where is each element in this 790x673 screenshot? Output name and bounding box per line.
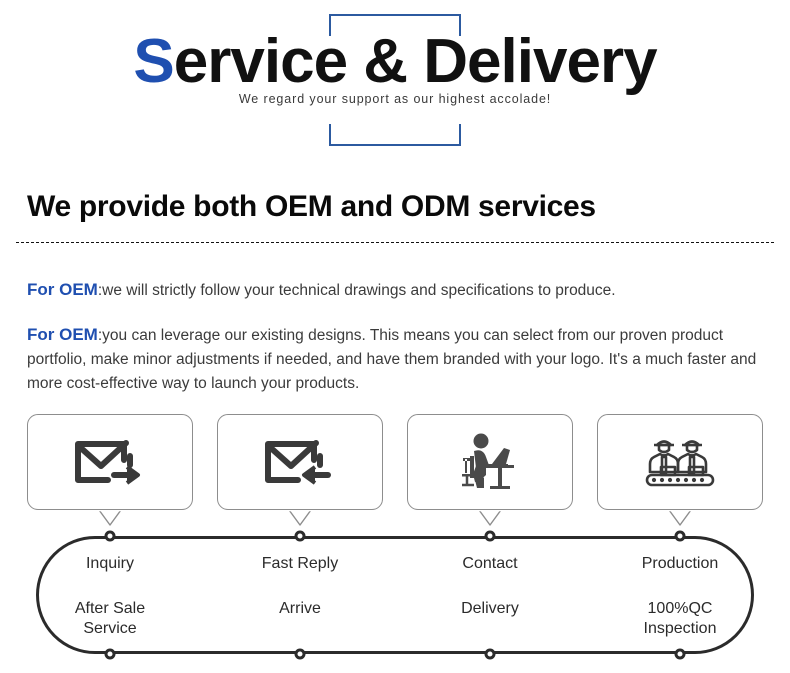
process-card-inquiry — [27, 414, 193, 510]
flow-step-qc-inspection: 100%QC Inspection — [605, 599, 755, 640]
flow-step-fast-reply: Fast Reply — [225, 554, 375, 574]
flow-node-top-3 — [485, 531, 496, 542]
paragraph-odm: For OEM:you can leverage our existing de… — [27, 322, 767, 396]
person-at-desk-icon — [448, 430, 532, 494]
section-heading: We provide both OEM and ODM services — [27, 190, 596, 224]
process-icon-cards — [0, 414, 790, 524]
flow-step-arrive: Arrive — [225, 599, 375, 619]
page-subtitle: We regard your support as our highest ac… — [0, 92, 790, 106]
process-card-contact — [407, 414, 573, 510]
factory-workers-conveyor-icon — [638, 430, 722, 494]
section-divider — [16, 242, 774, 243]
card-tail-production — [669, 510, 691, 527]
process-card-fast-reply — [217, 414, 383, 510]
flow-step-production: Production — [605, 554, 755, 574]
page-title-accent-letter: S — [133, 27, 173, 96]
flow-node-bottom-3 — [485, 649, 496, 660]
flow-step-contact: Contact — [415, 554, 565, 574]
card-tail-contact — [479, 510, 501, 527]
decorative-bracket-bottom — [329, 124, 461, 146]
flow-node-top-2 — [295, 531, 306, 542]
paragraph-odm-lead: For OEM — [27, 325, 98, 344]
flow-step-inquiry: Inquiry — [35, 554, 185, 574]
envelope-receive-icon — [258, 430, 342, 494]
flow-node-top-1 — [105, 531, 116, 542]
envelope-send-icon — [68, 430, 152, 494]
page-title-rest: ervice & Delivery — [174, 27, 657, 96]
card-tail-inquiry — [99, 510, 121, 527]
paragraph-oem-lead: For OEM — [27, 280, 98, 299]
flow-step-after-sale-service: After Sale Service — [35, 599, 185, 640]
page-title: Service & Delivery — [0, 29, 790, 94]
paragraph-odm-body: :you can leverage our existing designs. … — [27, 327, 756, 392]
flow-step-delivery: Delivery — [415, 599, 565, 619]
paragraph-oem-body: :we will strictly follow your technical … — [98, 282, 616, 299]
flow-node-bottom-4 — [675, 649, 686, 660]
process-card-production — [597, 414, 763, 510]
page-header: Service & Delivery We regard your suppor… — [0, 0, 790, 168]
card-tail-fast-reply — [289, 510, 311, 527]
paragraph-oem: For OEM:we will strictly follow your tec… — [27, 277, 767, 303]
flow-node-top-4 — [675, 531, 686, 542]
process-flow-track: Inquiry Fast Reply Contact Production Af… — [36, 536, 754, 654]
flow-node-bottom-1 — [105, 649, 116, 660]
flow-node-bottom-2 — [295, 649, 306, 660]
